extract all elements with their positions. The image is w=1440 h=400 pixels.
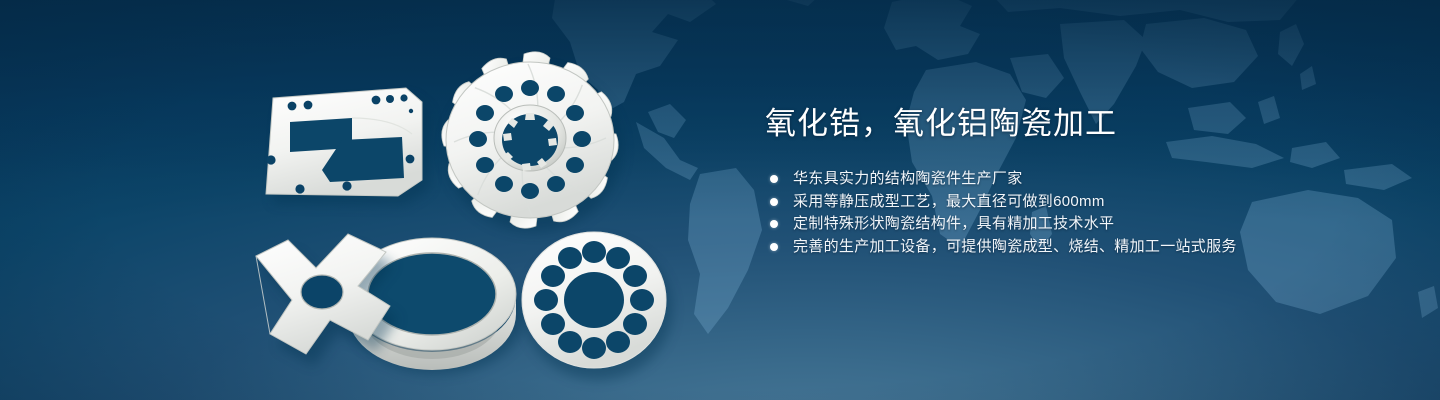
banner-copy: 氧化锆，氧化铝陶瓷加工 华东具实力的结构陶瓷件生产厂家 采用等静压成型工艺，最大… — [765, 104, 1325, 261]
bullet-dot-icon — [770, 243, 778, 251]
part-machined-plate — [266, 88, 429, 205]
list-item-label: 定制特殊形状陶瓷结构件，具有精加工技术水平 — [793, 215, 1114, 232]
part-impeller-disc — [442, 52, 622, 232]
bullet-dot-icon — [770, 220, 778, 228]
bullet-dot-icon — [770, 175, 778, 183]
list-item-label: 采用等静压成型工艺，最大直径可做到600mm — [793, 193, 1105, 210]
list-item: 采用等静压成型工艺，最大直径可做到600mm — [770, 194, 1325, 210]
list-item-label: 完善的生产加工设备，可提供陶瓷成型、烧结、精加工一站式服务 — [793, 238, 1237, 255]
feature-list: 华东具实力的结构陶瓷件生产厂家 采用等静压成型工艺，最大直径可做到600mm 定… — [765, 171, 1325, 255]
product-photo-collage — [0, 0, 720, 400]
list-item-label: 华东具实力的结构陶瓷件生产厂家 — [793, 170, 1023, 187]
part-cross-plate — [256, 234, 398, 366]
promo-banner: 氧化锆，氧化铝陶瓷加工 华东具实力的结构陶瓷件生产厂家 采用等静压成型工艺，最大… — [0, 0, 1440, 400]
list-item: 定制特殊形状陶瓷结构件，具有精加工技术水平 — [770, 216, 1325, 232]
bullet-dot-icon — [770, 198, 778, 206]
page-title: 氧化锆，氧化铝陶瓷加工 — [765, 104, 1325, 144]
part-perforated-disc — [522, 232, 672, 380]
list-item: 华东具实力的结构陶瓷件生产厂家 — [770, 171, 1325, 187]
list-item: 完善的生产加工设备，可提供陶瓷成型、烧结、精加工一站式服务 — [770, 239, 1325, 255]
